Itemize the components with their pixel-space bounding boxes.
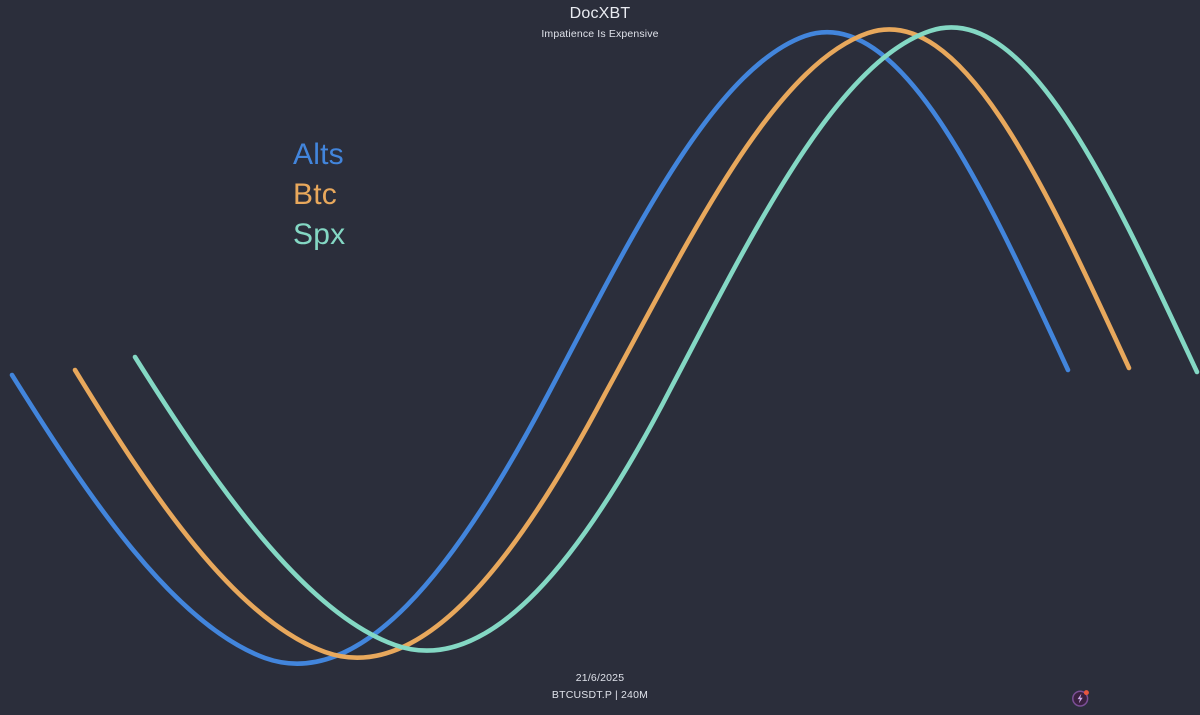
series-line-spx [135,27,1197,650]
legend-item-btc[interactable]: Btc [293,178,345,212]
legend-item-alts[interactable]: Alts [293,138,345,172]
chart-canvas: DocXBT Impatience Is Expensive Alts Btc … [0,0,1200,715]
cycle-curves-plot [0,0,1200,715]
series-line-btc [75,29,1129,657]
series-line-alts [12,32,1068,664]
lightning-bolt-badge-icon [1070,687,1092,709]
legend-item-spx[interactable]: Spx [293,218,345,252]
chart-legend: Alts Btc Spx [293,138,345,252]
